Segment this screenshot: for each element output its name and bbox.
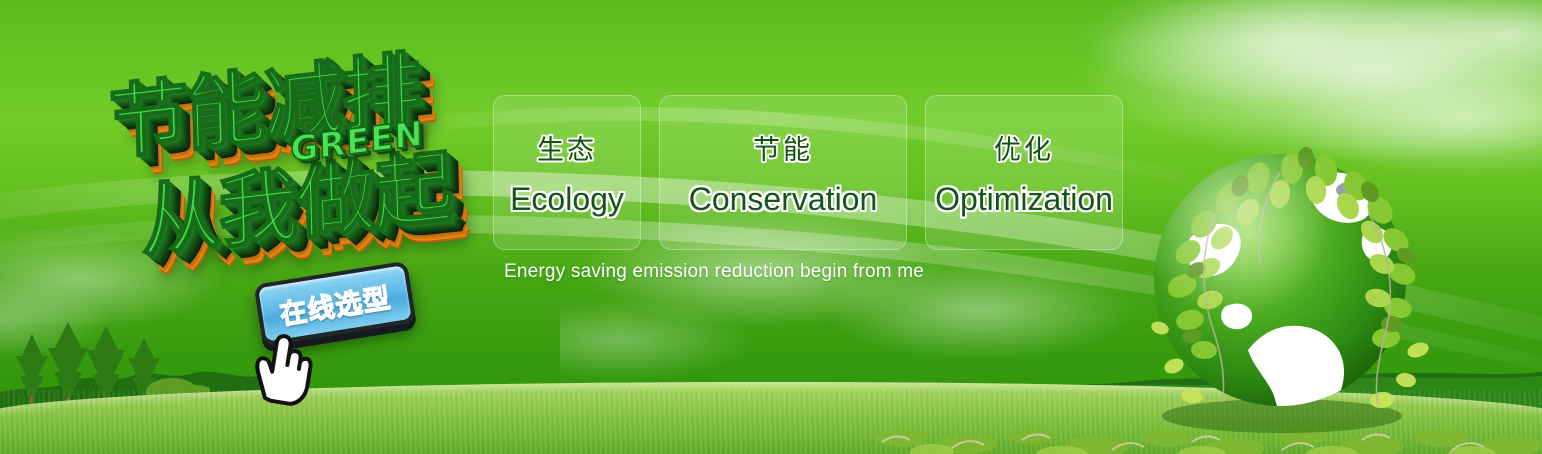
banner-tagline: Energy saving emission reduction begin f… [504,261,924,283]
headline-overlay-word: GREEN [290,114,424,171]
feature-card-ecology-en: Ecology [510,181,624,218]
tree-line-icon [0,346,1542,416]
leaf-litter-icon [862,398,1542,454]
tree-icon [10,314,210,404]
feature-card-conservation-en: Conservation [689,181,878,218]
feature-card-optimization[interactable]: 优化 Optimization [925,95,1123,250]
feature-card-conservation[interactable]: 节能 Conservation [659,95,907,250]
green-leaf-globe-icon [1130,128,1430,434]
feature-card-optimization-en: Optimization [935,181,1113,218]
feature-card-ecology[interactable]: 生态 Ecology [493,95,641,250]
headline-line-2: 从我做起 [139,122,452,274]
grass-texture [0,390,1542,454]
grass-field [0,382,1542,454]
headline-line-1: 节能减排 [107,24,420,176]
headline-3d-art: 节能减排 从我做起 GREEN [100,36,500,266]
feature-card-group: 生态 Ecology 节能 Conservation 优化 Optimizati… [493,95,1123,250]
feature-card-conservation-cn: 节能 [753,128,813,167]
eco-promo-banner: 节能减排 从我做起 GREEN 在线选型 生态 Ecology 节能 Conse… [0,0,1542,454]
online-selection-cta[interactable]: 在线选型 [254,260,423,354]
online-selection-button[interactable]: 在线选型 [254,261,417,346]
online-selection-label: 在线选型 [277,275,394,331]
feature-card-ecology-cn: 生态 [537,128,597,167]
feature-card-optimization-cn: 优化 [994,128,1054,167]
